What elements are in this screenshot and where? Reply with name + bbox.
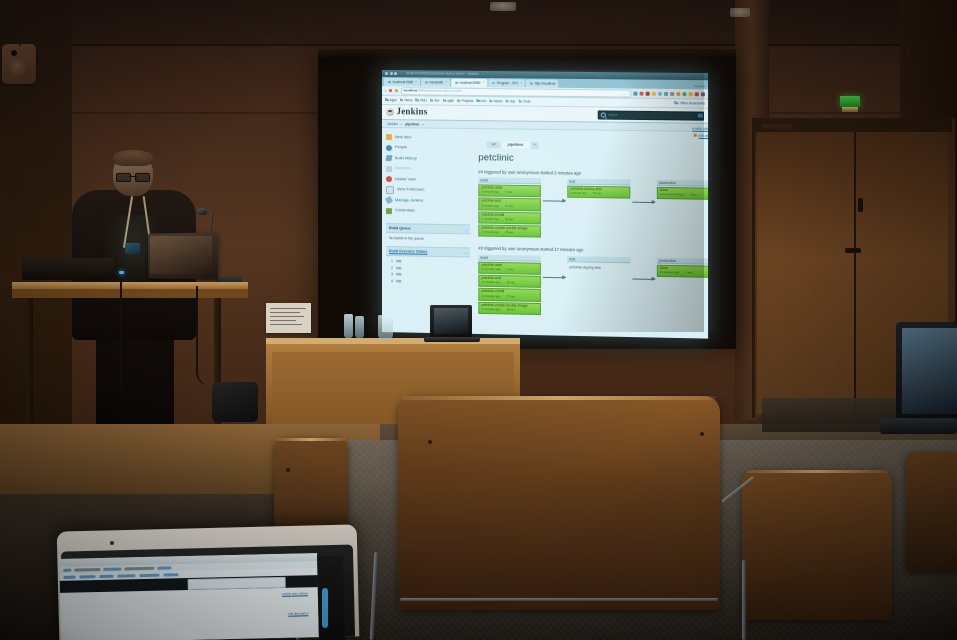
stage-box-time: 2 minutes ago <box>481 191 499 195</box>
bookmark-music[interactable]: Music <box>489 99 502 103</box>
stage-box-time: 2 minutes ago <box>481 218 499 222</box>
tab-pipelines[interactable]: pipelines <box>503 142 529 149</box>
stage-label: production <box>657 257 708 264</box>
water-bottle <box>344 314 353 338</box>
extension-icon[interactable] <box>640 91 644 95</box>
stage-production: production done a few seconds ago3 sec <box>657 180 708 233</box>
breadcrumb-jenkins[interactable]: Jenkins <box>387 122 398 126</box>
favicon-icon <box>388 81 391 84</box>
breadcrumb-separator: ▸ <box>401 122 403 126</box>
stage-build: build petclinic-start 2 minutes ago7 sec… <box>478 177 541 238</box>
jenkins-logo-icon[interactable] <box>386 108 394 116</box>
stage-box-duration: 25 sec <box>507 282 515 286</box>
stage-box-time: a few seconds ago <box>660 193 684 197</box>
search-submit-button[interactable] <box>698 113 703 118</box>
executor-state: Idle <box>396 279 402 283</box>
lock-icon[interactable] <box>652 91 656 95</box>
stage-box-duration: 29 sec <box>505 231 513 235</box>
executor-row: 4 Idle <box>386 278 470 286</box>
podium-top-edge <box>266 338 520 344</box>
stage-box[interactable]: done 15 minutes ago3 sec <box>657 264 708 278</box>
main-content: enable auto refresh edit description All… <box>470 129 708 339</box>
extension-icon[interactable] <box>646 91 650 95</box>
tab-label: localhost:9080 <box>460 81 481 85</box>
bookmark-dev[interactable]: dev <box>430 99 440 103</box>
podium-laptop-screen <box>434 308 468 334</box>
window-title: localhost:9080/job/petclinic-deploy-test… <box>406 71 702 78</box>
executor-state: Idle <box>396 272 402 276</box>
ceiling-light <box>730 8 750 17</box>
extension-icon[interactable] <box>695 92 699 96</box>
bookmark-label: agile <box>447 99 454 103</box>
macbook-scroll-indicator <box>322 588 328 628</box>
sidebar-item-label: Credentials <box>395 209 415 214</box>
cable <box>196 286 220 386</box>
arrow-icon <box>543 200 565 201</box>
sidebar-item-label: Delete View <box>395 177 416 182</box>
fullscreen-icon <box>386 186 394 194</box>
stage-body: done 15 minutes ago3 sec <box>657 264 708 310</box>
conference-badge <box>125 243 140 254</box>
printed-handout <box>266 303 311 333</box>
view-tabs[interactable]: All pipelines + <box>486 139 708 151</box>
stage-box-time: 17 minutes ago <box>481 281 500 285</box>
collapse-icon[interactable]: – <box>465 227 467 232</box>
audience-laptop-right-screen <box>902 328 957 414</box>
stage-box[interactable]: petclinic-install 2 minutes ago31 sec <box>478 211 541 224</box>
door-left <box>757 132 856 414</box>
favicon-icon <box>530 82 533 85</box>
build-history-icon <box>385 155 392 161</box>
executor-number: 1 <box>391 260 393 264</box>
cloud-icon[interactable] <box>664 91 668 95</box>
stage-box[interactable]: petclinic-test 2 minutes ago27 sec <box>478 198 541 211</box>
folder-icon <box>505 100 509 103</box>
tab-label: http://localhost <box>535 82 556 86</box>
folder-icon <box>674 102 678 105</box>
back-icon[interactable]: ‹ <box>385 88 386 93</box>
stage-box-time: 15 minutes ago <box>660 271 680 275</box>
stage-box-time: 17 minutes ago <box>481 268 500 272</box>
stage-box[interactable]: petclinic-start 2 minutes ago7 sec <box>478 184 541 197</box>
exit-sign-glow <box>842 107 858 112</box>
arrow-icon <box>543 277 565 278</box>
stage-box-time: 2 minutes ago <box>481 204 499 208</box>
folder-icon <box>518 100 522 103</box>
sidebar-item-label: New Item <box>395 135 411 140</box>
jenkins-brand[interactable]: Jenkins <box>396 107 427 119</box>
stage-box[interactable]: petclinic-create-docker-image 16 minutes… <box>478 301 541 315</box>
executor-state: Idle <box>396 266 402 270</box>
stage-box-duration: 3 sec <box>686 271 693 275</box>
glasses-bridge <box>129 176 137 177</box>
executor-number: 2 <box>391 266 393 270</box>
tab-label: README <box>430 80 444 84</box>
executor-status-panel: Build Executor Status – 1 Idle 2 Idle <box>386 246 470 285</box>
pipeline-run-4: build petclinic-start 2 minutes ago7 sec… <box>478 177 708 241</box>
stage-body: petclinic-deploy-test a minute ago33 sec <box>567 186 630 231</box>
bookmark-label: tmp <box>510 99 515 103</box>
close-icon[interactable]: × <box>482 81 484 85</box>
window-menu-button[interactable]: Window <box>694 85 705 89</box>
sidebar-item-label: Build History <box>395 156 417 161</box>
macbook-edit-description-link: edit description <box>288 611 308 615</box>
bookmark-news[interactable]: News <box>400 98 413 102</box>
stage-body: petclinic-start 2 minutes ago7 sec petcl… <box>478 184 541 238</box>
extension-icon[interactable] <box>676 92 680 96</box>
address-bar[interactable]: localhost:9080/job/petclinic-deploy-test… <box>401 87 631 97</box>
bookmark-projects[interactable]: Projects <box>457 99 473 103</box>
stage-box-duration: 28 sec <box>507 308 515 312</box>
edit-view-icon <box>386 166 392 172</box>
folder-icon <box>415 99 419 102</box>
bookmark-label: Projects <box>462 99 474 103</box>
credentials-icon <box>386 208 392 214</box>
browser-tab[interactable]: localhost:9080 × <box>384 78 420 86</box>
sidebar-item-label: Edit View <box>395 166 411 171</box>
stage-box-time: 16 minutes ago <box>481 295 500 299</box>
second-laptop <box>22 258 114 280</box>
folder-icon <box>385 99 389 102</box>
door-lock <box>858 198 863 212</box>
delete-view-icon <box>386 176 392 182</box>
build-queue-title: Build Queue <box>389 226 411 231</box>
run-header: #4 triggered by user anonymous started 2… <box>478 169 708 178</box>
backpack <box>212 382 258 422</box>
close-icon[interactable]: × <box>520 82 522 86</box>
microphone-head <box>197 208 207 215</box>
bookmark-label: dev <box>434 99 439 103</box>
ceiling-light <box>490 2 516 11</box>
folder-icon <box>400 99 404 102</box>
stage-label: build <box>478 254 541 261</box>
speaker-tweeter <box>11 50 17 56</box>
water-bottle <box>355 316 364 338</box>
other-bookmarks[interactable]: Other bookmarks <box>674 101 705 105</box>
executor-number: 3 <box>391 272 393 276</box>
stage-test: test petclinic-deploy-test <box>567 256 630 308</box>
stage-box[interactable]: petclinic-start 17 minutes ago7 sec <box>478 261 541 274</box>
arrow-icon <box>632 201 654 202</box>
bookmark-label: News <box>404 98 412 102</box>
manage-jenkins-icon <box>385 196 393 204</box>
browser-window: localhost:9080/job/petclinic-deploy-test… <box>382 70 708 339</box>
browser-tab[interactable]: README × <box>421 78 450 86</box>
close-icon[interactable]: × <box>445 81 447 85</box>
webcam-icon <box>110 541 114 545</box>
arrow-icon <box>632 279 654 280</box>
bookmark-label: VNU <box>420 98 427 102</box>
stage-box-duration: 7 sec <box>505 191 512 195</box>
folder-icon <box>476 100 480 103</box>
executor-state: Idle <box>396 260 402 264</box>
stage-box[interactable]: petclinic-test 17 minutes ago25 sec <box>478 275 541 289</box>
speaker-cone <box>8 58 29 79</box>
build-queue-empty: No builds in the queue. <box>386 233 470 242</box>
bookmark-info[interactable]: Info <box>476 99 486 103</box>
speaker-mount <box>19 38 21 46</box>
status-led <box>119 271 124 274</box>
stage-box[interactable]: petclinic-install 16 minutes ago27 sec <box>478 288 541 302</box>
menu-icon[interactable] <box>701 92 705 96</box>
folder-icon <box>489 100 493 103</box>
sidebar-item-label: Manage Jenkins <box>395 198 423 203</box>
search-placeholder: search <box>608 113 617 117</box>
presenter-glasses <box>116 173 150 180</box>
folder-icon <box>430 99 434 102</box>
bookmark-agile[interactable]: agile <box>443 99 454 103</box>
macbook-search-input <box>188 577 286 590</box>
macbook-screen: enable auto refresh edit description <box>59 553 319 640</box>
bookmark-label: Apps <box>390 98 397 102</box>
stage-test: test petclinic-deploy-test a minute ago3… <box>567 179 630 231</box>
stage-box-time: 2 minutes ago <box>481 231 499 235</box>
url-path: :9080/job/petclinic-deploy-test/4/ <box>417 88 462 92</box>
stage-label: test <box>567 179 630 186</box>
pipeline-arrow <box>541 178 567 223</box>
upper-wall-band <box>0 0 957 46</box>
stage-box-duration: 27 sec <box>505 205 513 209</box>
stage-body: petclinic-start 17 minutes ago7 sec petc… <box>478 261 541 315</box>
stage-box[interactable]: petclinic-create-docker-image 2 minutes … <box>478 225 541 238</box>
enable-auto-refresh-link[interactable]: enable auto refresh <box>692 127 708 131</box>
stage-body: petclinic-deploy-test <box>567 262 630 308</box>
door-handle <box>845 248 861 253</box>
door-closer <box>762 124 792 129</box>
people-icon <box>386 145 392 151</box>
executor-status-title[interactable]: Build Executor Status <box>389 249 427 254</box>
page-title: petclinic <box>478 152 708 167</box>
tab-label: Program - XP2 <box>497 81 518 85</box>
breadcrumb-caret-icon[interactable]: ▾ <box>422 122 424 126</box>
main-links: enable auto refresh edit description <box>692 127 708 142</box>
presenter-laptop-screen <box>150 236 212 274</box>
tab-label: localhost:9080 <box>393 80 414 84</box>
stage-plain-label: petclinic-deploy-test <box>567 262 630 274</box>
search-icon <box>601 112 606 118</box>
collapse-icon[interactable]: – <box>465 250 467 255</box>
browser-tab[interactable]: Program - XP2 × <box>488 79 525 87</box>
stage-box-duration: 3 sec <box>690 194 697 198</box>
stage-box-duration: 31 sec <box>505 218 513 222</box>
folder-icon <box>443 99 447 102</box>
add-view-button[interactable]: + <box>530 142 538 149</box>
macbook-auto-refresh-link: enable auto refresh <box>282 591 308 596</box>
podium-laptop-base <box>424 337 480 342</box>
bookmark-label: Info <box>481 99 486 103</box>
sidebar-item-label: People <box>395 145 407 150</box>
bookmark-label: Music <box>494 99 502 103</box>
close-icon[interactable]: × <box>415 80 417 84</box>
extension-icon[interactable] <box>633 91 637 95</box>
projection-screen: localhost:9080/job/petclinic-deploy-test… <box>382 70 708 339</box>
extension-icon[interactable] <box>670 91 674 95</box>
tab-all[interactable]: All <box>486 141 500 148</box>
breadcrumb-pipelines[interactable]: pipelines <box>405 122 419 126</box>
stage-label: production <box>657 180 708 187</box>
extension-icon[interactable] <box>658 91 662 95</box>
edit-description-link[interactable]: edit description <box>692 134 708 138</box>
bookmark-tmp[interactable]: tmp <box>505 99 515 103</box>
bookmark-label: Other bookmarks <box>680 101 705 105</box>
build-queue-panel: Build Queue – No builds in the queue. <box>386 223 470 242</box>
search-input[interactable]: search <box>598 110 704 120</box>
extension-icon[interactable] <box>682 92 686 96</box>
cable <box>120 278 148 398</box>
extension-icon[interactable] <box>689 92 693 96</box>
pipeline-run-3: build petclinic-start 17 minutes ago7 se… <box>478 254 708 318</box>
favicon-icon <box>455 81 458 84</box>
browser-tab-active[interactable]: localhost:9080 × <box>451 79 487 87</box>
pipeline-arrow <box>541 255 567 300</box>
stage-build: build petclinic-start 17 minutes ago7 se… <box>478 254 541 315</box>
bookmark-apps[interactable]: Apps <box>385 98 397 102</box>
stage-box-time: a minute ago <box>570 192 586 196</box>
url-host: localhost <box>404 88 418 92</box>
stage-box-duration: 7 sec <box>507 268 514 272</box>
audience-laptop-right-base <box>880 418 957 434</box>
folder-icon <box>457 99 461 102</box>
stage-box[interactable]: done a few seconds ago3 sec <box>657 187 708 200</box>
stage-body: done a few seconds ago3 sec <box>657 187 708 233</box>
exit-sign-icon <box>840 96 860 107</box>
bookmark-tools[interactable]: Tools <box>518 99 530 103</box>
executor-number: 4 <box>391 279 393 283</box>
conference-room-photo: localhost:9080/job/petclinic-deploy-test… <box>0 0 957 640</box>
favicon-icon <box>492 82 495 85</box>
stage-box-time: 16 minutes ago <box>481 308 500 312</box>
stage-box[interactable]: petclinic-deploy-test a minute ago33 sec <box>567 186 630 199</box>
stage-label: build <box>478 177 541 184</box>
executor-list: 1 Idle 2 Idle 3 Idle <box>386 256 470 285</box>
new-item-icon <box>386 134 392 140</box>
bookmark-label: Tools <box>523 100 531 104</box>
wall-seam <box>0 44 957 46</box>
reload-icon[interactable] <box>395 89 398 92</box>
window-controls[interactable] <box>385 72 397 75</box>
bookmark-vnu[interactable]: VNU <box>415 98 426 102</box>
stop-icon[interactable] <box>389 89 392 92</box>
stage-box-duration: 27 sec <box>507 295 515 299</box>
sidebar-item-label: View Fullscreen <box>397 188 424 193</box>
presenter-hair <box>113 150 153 166</box>
drinking-glass <box>378 315 393 339</box>
stage-box-duration: 33 sec <box>593 193 601 197</box>
pipeline-arrow <box>630 257 657 302</box>
browser-tab[interactable]: http://localhost <box>526 79 559 87</box>
pipeline-arrow <box>630 180 657 225</box>
favicon-icon <box>425 81 428 84</box>
stage-production: production done 15 minutes ago3 sec <box>657 257 708 310</box>
extension-icons[interactable] <box>633 91 705 96</box>
sidebar-item-credentials[interactable]: Credentials <box>386 206 470 218</box>
